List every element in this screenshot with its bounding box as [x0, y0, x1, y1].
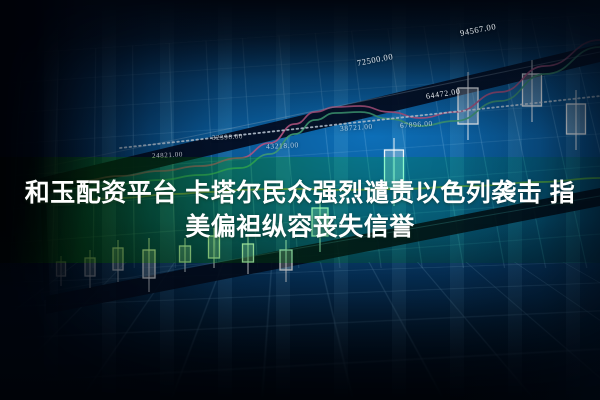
price-label: 38721.00: [340, 122, 373, 133]
headline-line-1: 和玉配资平台 卡塔尔民众强烈谴责以色列袭击 指: [22, 178, 578, 208]
price-label: 43218.00: [266, 140, 299, 151]
price-label: 67896.00: [400, 119, 433, 130]
price-label: 32396.00: [212, 132, 243, 142]
headline-line-2: 美偏袒纵容丧失信誉: [22, 212, 578, 242]
headline-block: 和玉配资平台 卡塔尔民众强烈谴责以色列袭击 指 美偏袒纵容丧失信誉: [0, 157, 600, 263]
news-banner-image: 94567.0072500.0064472.0038721.0067896.00…: [0, 0, 600, 400]
price-label: 94567.00: [459, 21, 497, 38]
price-label: 64472.00: [425, 87, 461, 101]
price-label: 72500.00: [356, 51, 394, 68]
